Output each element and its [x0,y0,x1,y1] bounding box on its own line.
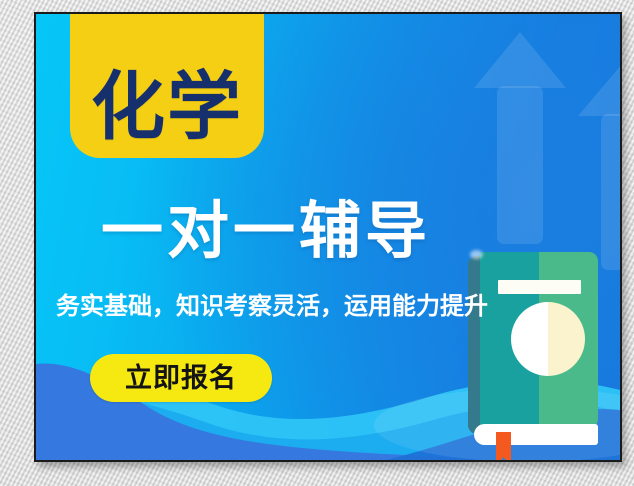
signup-button[interactable]: 立即报名 [90,354,272,402]
book-illustration [452,236,620,460]
book-pages [474,424,598,445]
subject-badge-label: 化学 [91,70,243,144]
subtitle: 务实基础，知识考察灵活，运用能力提升 [56,292,484,321]
book-emblem-circle [511,302,585,376]
book-title-band [498,280,581,294]
signup-button-label: 立即报名 [125,365,237,392]
up-arrow-large-icon [474,32,566,244]
headline: 一对一辅导 [56,200,476,262]
page-backdrop: 化学 一对一辅导 务实基础，知识考察灵活，运用能力提升 立即报名 [0,0,634,486]
subject-badge: 化学 [70,14,264,158]
promo-banner: 化学 一对一辅导 务实基础，知识考察灵活，运用能力提升 立即报名 [34,12,622,462]
book-bookmark-ribbon [496,432,511,460]
banner-inner: 化学 一对一辅导 务实基础，知识考察灵活，运用能力提升 立即报名 [36,14,620,460]
